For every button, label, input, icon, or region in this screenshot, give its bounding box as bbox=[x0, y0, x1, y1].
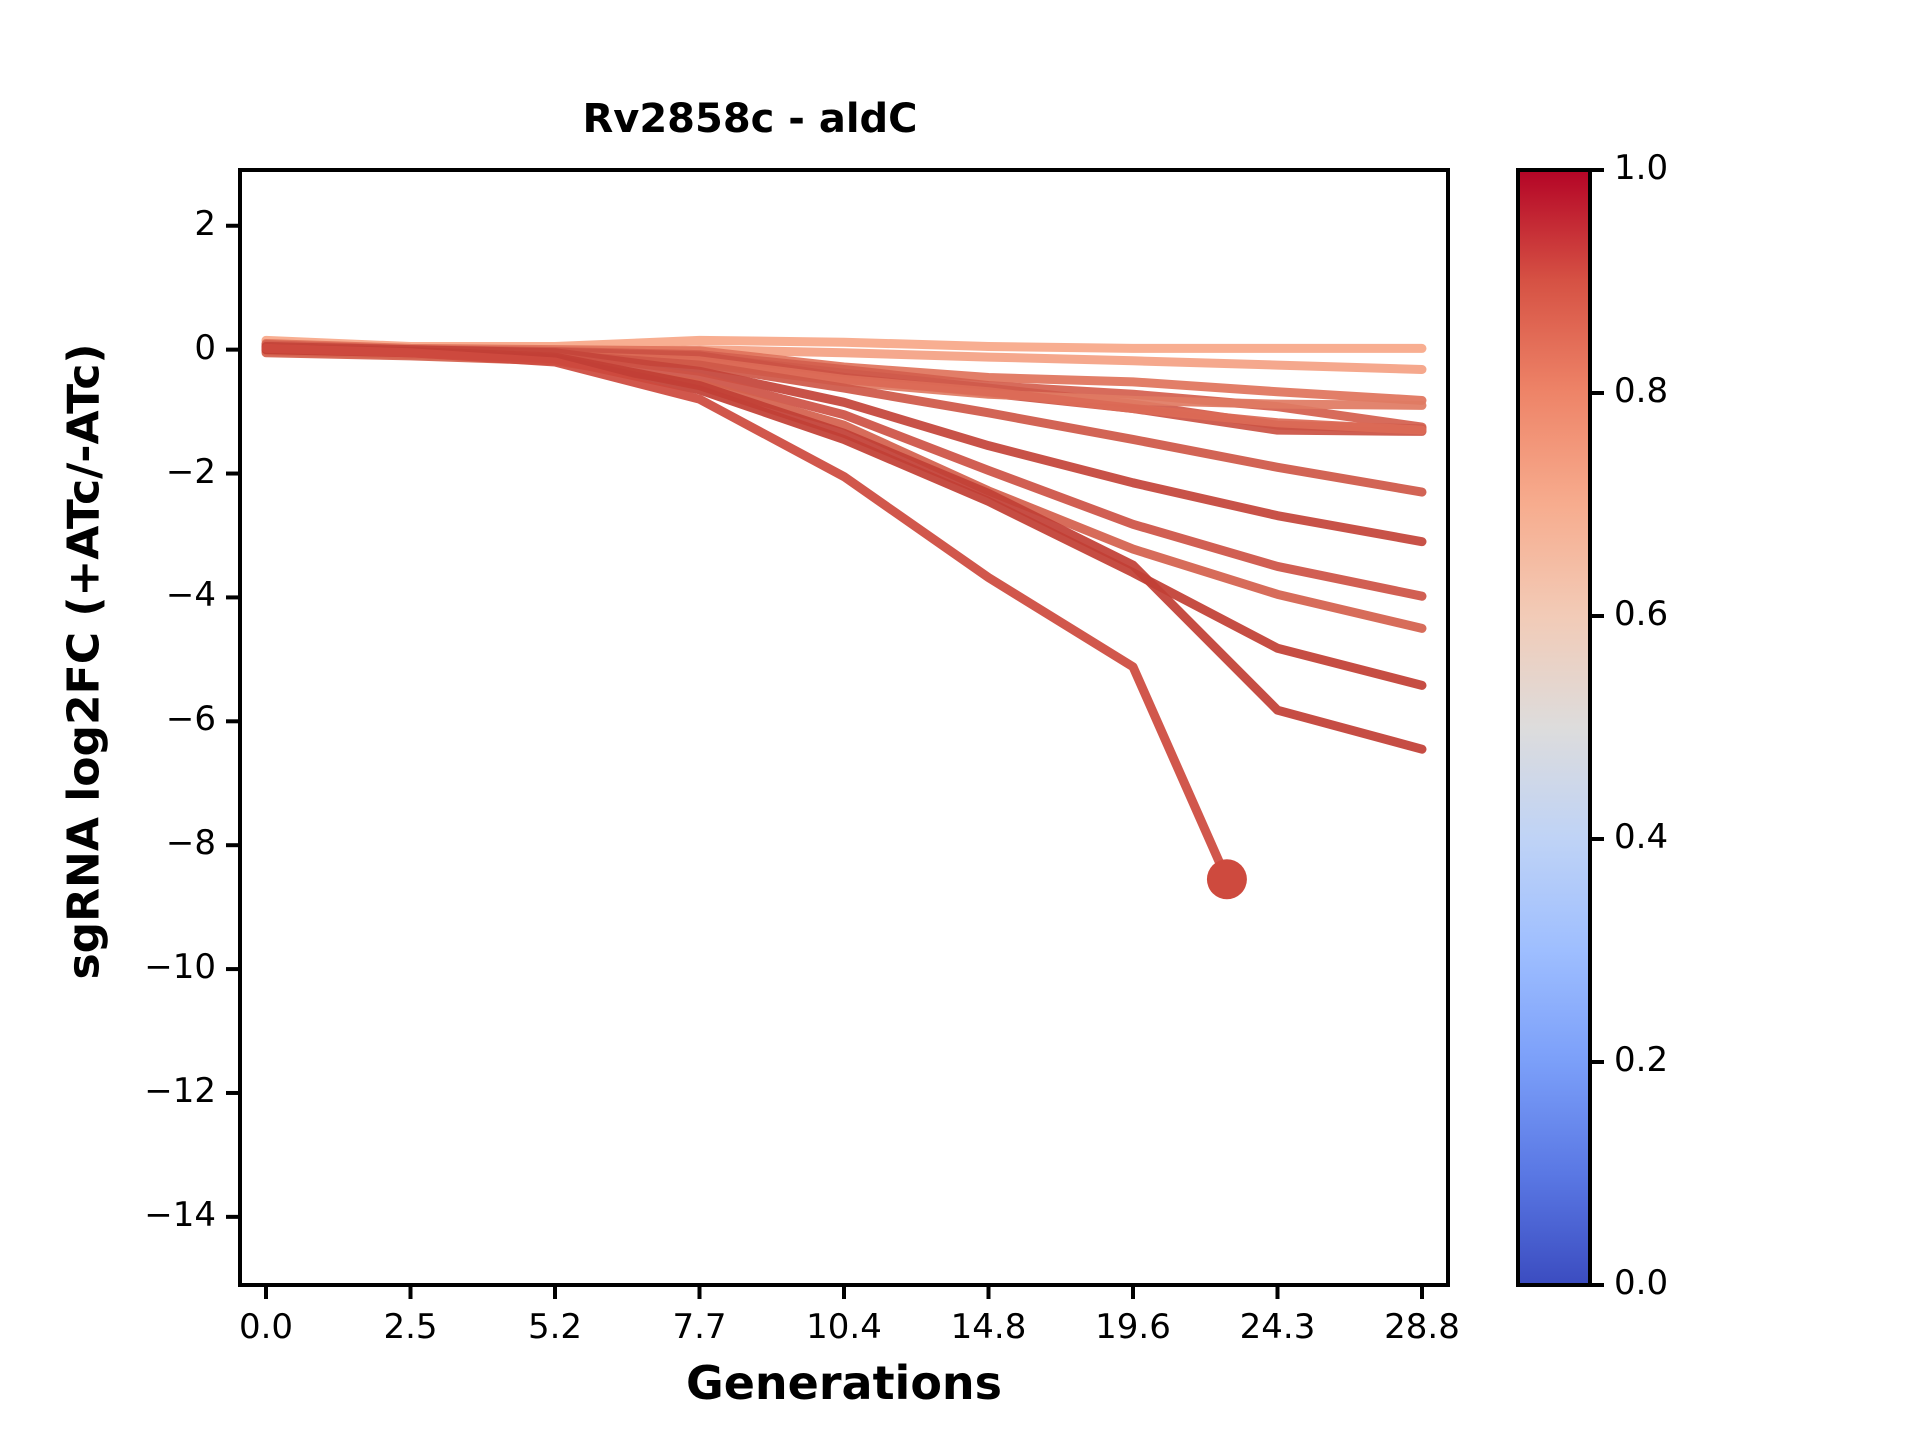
y-tick-label: −4 bbox=[16, 575, 216, 615]
colorbar-tick-label: 0.0 bbox=[1614, 1263, 1668, 1303]
line-chart-canvas bbox=[0, 0, 1920, 1440]
colorbar-tick-label: 0.6 bbox=[1614, 594, 1668, 634]
colorbar-tick-label: 0.8 bbox=[1614, 371, 1668, 411]
colorbar-tick-label: 1.0 bbox=[1614, 148, 1668, 188]
y-tick-label: −12 bbox=[16, 1071, 216, 1111]
colorbar-tick-label: 0.2 bbox=[1614, 1040, 1668, 1080]
y-tick-label: −14 bbox=[16, 1195, 216, 1235]
y-tick-label: −2 bbox=[16, 452, 216, 492]
colorbar-tick-label: 0.4 bbox=[1614, 817, 1668, 857]
y-tick-label: 0 bbox=[16, 328, 216, 368]
series-endpoint-marker bbox=[1207, 859, 1247, 899]
plot-background bbox=[240, 170, 1448, 1285]
colorbar-tick-marks bbox=[1590, 170, 1604, 1285]
y-tick-label: −10 bbox=[16, 947, 216, 987]
y-tick-label: −8 bbox=[16, 823, 216, 863]
y-tick-label: −6 bbox=[16, 699, 216, 739]
x-axis-label: Generations bbox=[240, 1356, 1448, 1410]
y-tick-label: 2 bbox=[16, 204, 216, 244]
x-tick-label: 28.8 bbox=[1322, 1307, 1522, 1347]
y-axis-label: sgRNA log2FC (+ATc/-ATc) bbox=[59, 162, 110, 1162]
chart-figure: Rv2858c - aldC bbox=[0, 0, 1920, 1440]
colorbar-gradient bbox=[1518, 170, 1590, 1285]
